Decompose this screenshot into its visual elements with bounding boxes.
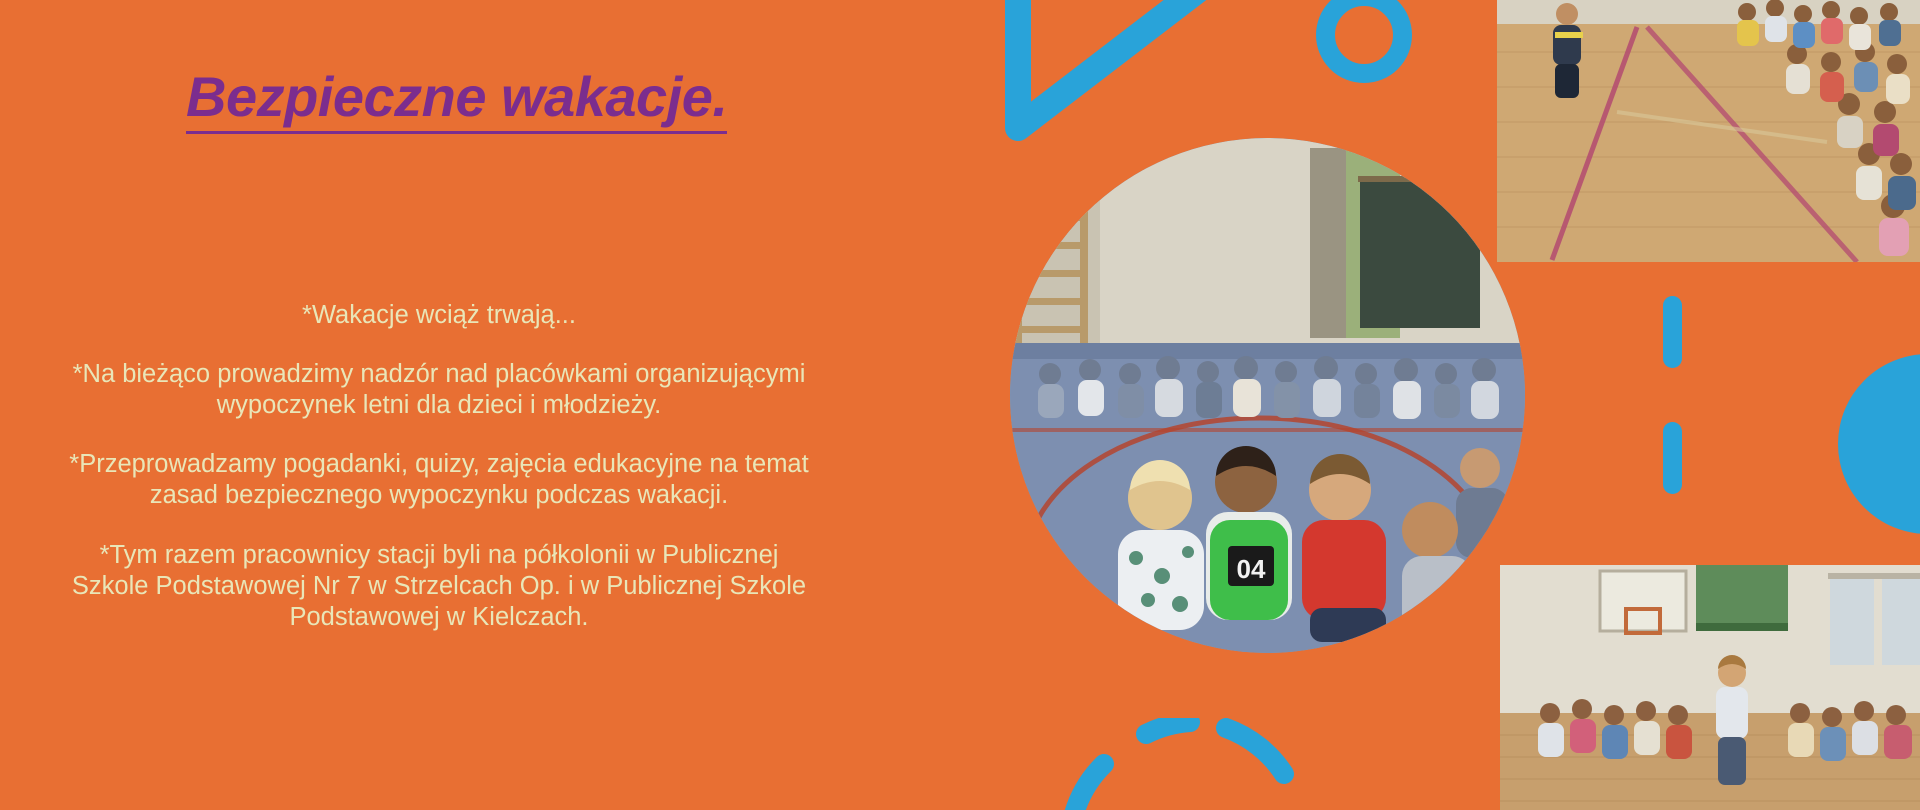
- filled-circle-shape-icon: [1838, 354, 1920, 534]
- ring-shape-icon: [1316, 0, 1412, 83]
- page-title: Bezpieczne wakacje.: [186, 68, 727, 134]
- photo-children-sitting-gym: 04: [1010, 138, 1525, 653]
- dash-segment: [1663, 296, 1682, 368]
- arc-dashes-shape-icon: [1060, 718, 1310, 810]
- body-text-block: *Wakacje wciąż trwają... *Na bieżąco pro…: [64, 300, 814, 633]
- photo-gym-assembly-bottom: [1500, 565, 1920, 810]
- paragraph-2: *Na bieżąco prowadzimy nadzór nad placów…: [64, 359, 814, 421]
- presentation-slide: 04: [0, 0, 1920, 810]
- dash-segment: [1663, 422, 1682, 494]
- chevron-shape-icon: [1000, 0, 1330, 150]
- dashed-line-shape-icon: [1663, 296, 1682, 494]
- photo-gym-assembly-top: [1497, 0, 1920, 262]
- svg-text:04: 04: [1237, 554, 1266, 584]
- paragraph-1: *Wakacje wciąż trwają...: [64, 300, 814, 331]
- paragraph-4: *Tym razem pracownicy stacji byli na pół…: [64, 540, 814, 633]
- paragraph-3: *Przeprowadzamy pogadanki, quizy, zajęci…: [64, 449, 814, 511]
